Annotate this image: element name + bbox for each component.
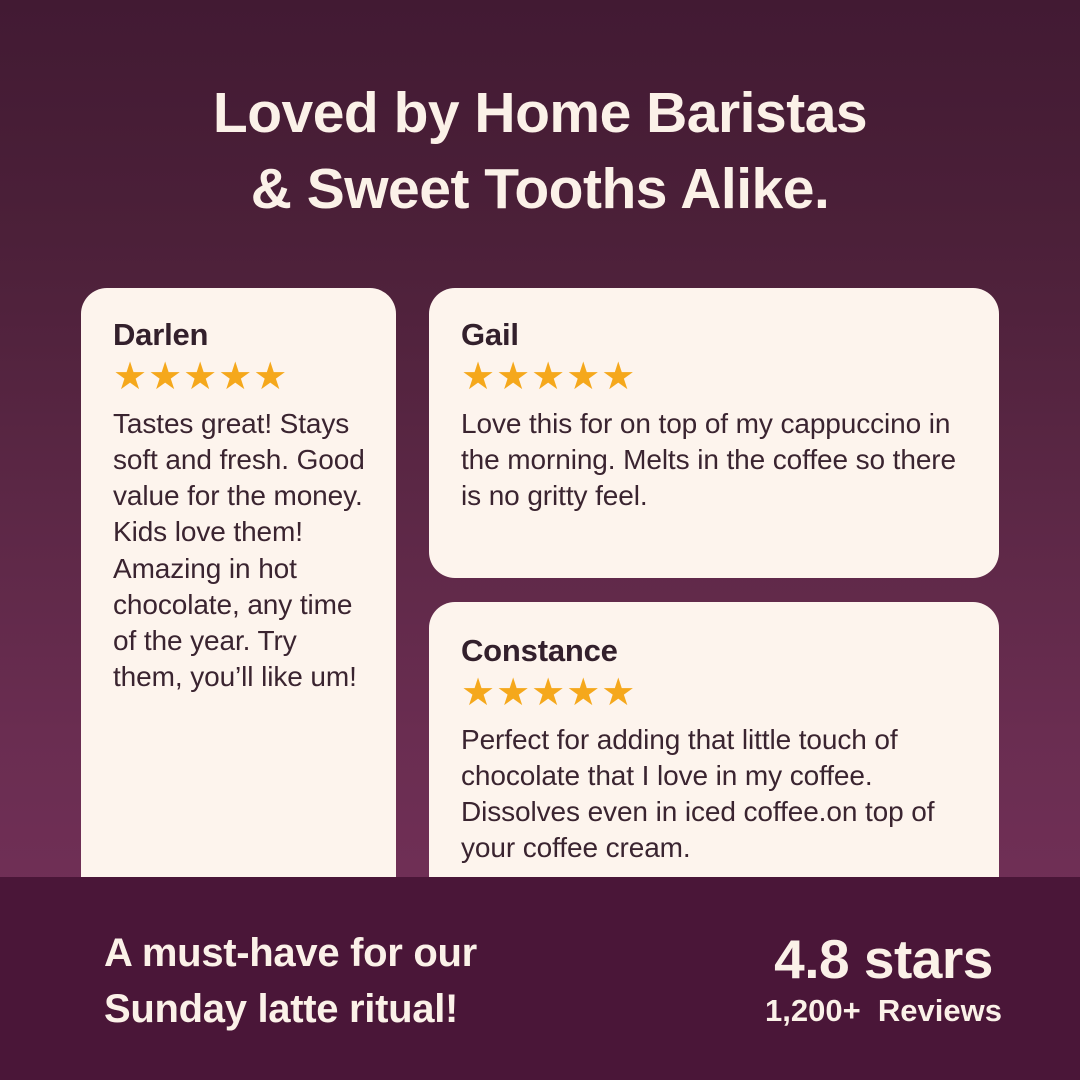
review-count: 1,200+ Reviews bbox=[765, 991, 1002, 1031]
page-title-line-1: Loved by Home Baristas bbox=[40, 76, 1040, 152]
review-card-gail[interactable]: Gail ★★★★★ Love this for on top of my ca… bbox=[429, 288, 999, 578]
review-poster: Loved by Home Baristas & Sweet Tooths Al… bbox=[0, 0, 1080, 1080]
page-title: Loved by Home Baristas & Sweet Tooths Al… bbox=[0, 38, 1080, 228]
review-text: Perfect for adding that little touch of … bbox=[461, 722, 967, 866]
star-rating-icon: ★★★★★ bbox=[461, 358, 967, 396]
rating-score: 4.8 stars bbox=[765, 931, 1002, 989]
page-title-line-2: & Sweet Tooths Alike. bbox=[40, 152, 1040, 228]
reviewer-name: Constance bbox=[461, 634, 967, 668]
summary-band: A must-have for our Sunday latte ritual!… bbox=[0, 877, 1080, 1080]
review-text: Tastes great! Stays soft and fresh. Good… bbox=[113, 406, 366, 695]
featured-quote: A must-have for our Sunday latte ritual! bbox=[104, 926, 765, 1036]
reviews-column-right: Gail ★★★★★ Love this for on top of my ca… bbox=[429, 288, 999, 927]
star-rating-icon: ★★★★★ bbox=[461, 674, 967, 712]
review-card-darlen[interactable]: Darlen ★★★★★ Tastes great! Stays soft an… bbox=[81, 288, 396, 927]
reviews-column-left: Darlen ★★★★★ Tastes great! Stays soft an… bbox=[81, 288, 396, 927]
reviews-grid: Darlen ★★★★★ Tastes great! Stays soft an… bbox=[0, 288, 1080, 927]
reviewer-name: Darlen bbox=[113, 318, 366, 352]
reviewer-name: Gail bbox=[461, 318, 967, 352]
review-text: Love this for on top of my cappuccino in… bbox=[461, 406, 967, 514]
aggregate-rating: 4.8 stars 1,200+ Reviews bbox=[765, 931, 1008, 1031]
star-rating-icon: ★★★★★ bbox=[113, 358, 366, 396]
